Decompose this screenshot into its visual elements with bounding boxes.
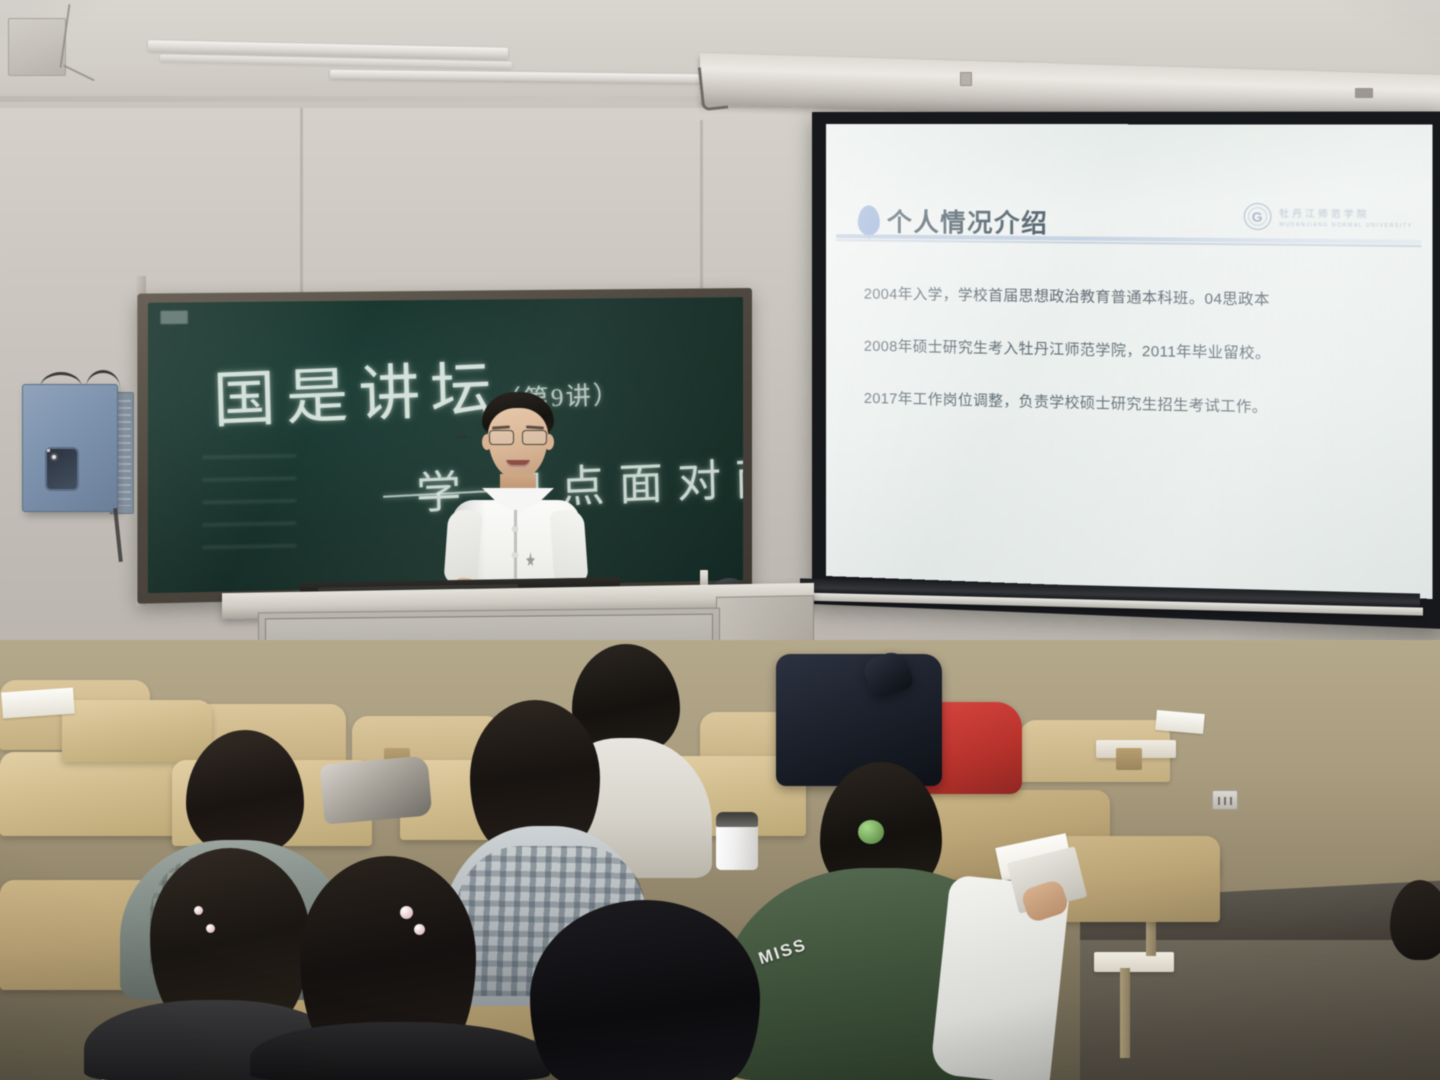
student-head [150,848,310,1024]
hairpin-icon [400,906,413,919]
ceiling-fixture-box [8,18,66,76]
hairpin-icon [206,924,215,933]
gray-bag [320,755,433,824]
bench-notch [1116,748,1142,770]
presenter [430,392,600,604]
eyeglasses-bridge [455,436,467,438]
rail-clip [1355,88,1373,98]
power-outlet[interactable] [1212,790,1238,810]
rail-clip [960,72,972,86]
logo-name-en: MUDANJIANG NORMAL UNIVERSITY [1279,221,1412,228]
logo-name-cn: 牡丹江师范学院 [1279,206,1412,221]
student-body [250,1022,550,1080]
desk-top [1094,952,1174,972]
status-led-icon [47,449,50,452]
wall-control-box[interactable] [22,384,118,512]
status-led-icon [52,455,56,459]
map-pin-icon [858,205,880,235]
shirt-button [512,552,518,558]
slide-body-line: 2017年工作岗位调整，负责学校硕士研究生招生考试工作。 [864,388,1391,423]
notebook-paper [1,688,75,719]
presenter-sleeve [443,509,482,585]
hairpin-icon [194,906,203,915]
presenter-mouth [506,460,530,467]
eyeglasses-icon [488,430,548,444]
projection-screen[interactable]: 个人情况介绍 G 牡丹江师范学院 MUDANJIANG NORMAL UNIVE… [826,124,1432,599]
bench-seat[interactable] [0,752,190,836]
hairpin-icon [414,924,425,935]
hair-tie-icon [858,820,884,844]
bench-seat[interactable] [62,700,212,762]
desk-leg [1120,968,1130,1058]
notebook-paper [1155,710,1205,734]
shirt-button [512,526,518,532]
presenter-sleeve [549,509,588,585]
blackboard-corner-tag [161,311,188,325]
presentation-slide: 个人情况介绍 G 牡丹江师范学院 MUDANJIANG NORMAL UNIVE… [826,124,1432,599]
classroom-photo-scene: 个人情况介绍 G 牡丹江师范学院 MUDANJIANG NORMAL UNIVE… [0,0,1440,1080]
rail-hook-icon [698,65,728,111]
slide-body-line: 2008年硕士研究生考入牡丹江师范学院，2011年毕业留校。 [864,336,1391,368]
blackboard-erased-marks [202,454,296,554]
wall-box-display [45,447,79,491]
white-thermos [716,812,758,870]
slide-body: 2004年入学，学校首届思想政治教育普通本科班。04思政本 2008年硕士研究生… [852,284,1404,423]
thermos-cap [716,812,758,827]
university-logo: G 牡丹江师范学院 MUDANJIANG NORMAL UNIVERSITY [1243,203,1412,231]
slide-body-line: 2004年入学，学校首届思想政治教育普通本科班。04思政本 [864,285,1391,315]
logo-mark-icon: G [1243,203,1271,230]
